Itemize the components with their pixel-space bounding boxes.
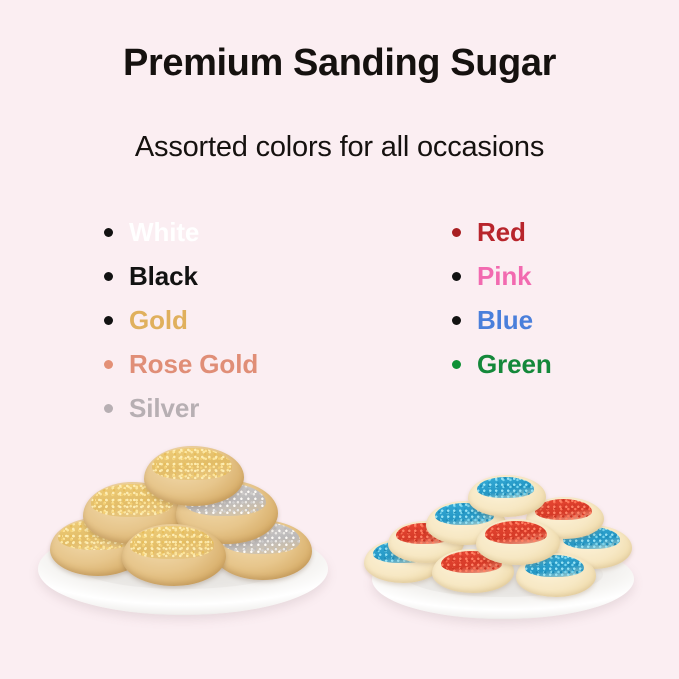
- color-label: Rose Gold: [129, 351, 258, 377]
- page-title: Premium Sanding Sugar: [0, 42, 679, 86]
- list-item: Silver: [104, 386, 258, 430]
- color-label: Red: [477, 219, 526, 245]
- bullet-icon: [452, 360, 461, 369]
- color-label: Silver: [129, 395, 199, 421]
- product-infographic: Premium Sanding Sugar Assorted colors fo…: [0, 0, 679, 679]
- red-blue-cookie-photo: [358, 469, 648, 619]
- color-label: Blue: [477, 307, 533, 333]
- color-list-left: White Black Gold Rose Gold Silver: [104, 210, 258, 430]
- cookie: [468, 475, 546, 517]
- list-item: Red: [452, 210, 552, 254]
- cookie: [122, 524, 226, 586]
- page-subtitle: Assorted colors for all occasions: [0, 131, 679, 164]
- color-label: Pink: [477, 263, 532, 289]
- color-options: White Black Gold Rose Gold Silver: [0, 210, 679, 430]
- cookie: [476, 519, 560, 565]
- gold-silver-cookie-photo: [28, 430, 338, 615]
- bullet-icon: [104, 272, 113, 281]
- list-item: Blue: [452, 298, 552, 342]
- color-label: Gold: [129, 307, 188, 333]
- bullet-icon: [104, 316, 113, 325]
- bullet-icon: [452, 272, 461, 281]
- list-item: White: [104, 210, 258, 254]
- list-item: Gold: [104, 298, 258, 342]
- color-label: Black: [129, 263, 198, 289]
- sanding-sugar: [152, 448, 232, 479]
- color-label: White: [129, 219, 199, 245]
- bullet-icon: [452, 228, 461, 237]
- bullet-icon: [104, 228, 113, 237]
- list-item: Rose Gold: [104, 342, 258, 386]
- bullet-icon: [104, 404, 113, 413]
- color-list-right: Red Pink Blue Green: [452, 210, 552, 386]
- list-item: Green: [452, 342, 552, 386]
- sanding-sugar: [477, 477, 535, 498]
- product-photos: [0, 430, 679, 679]
- list-item: Black: [104, 254, 258, 298]
- list-item: Pink: [452, 254, 552, 298]
- cookie: [144, 446, 244, 506]
- color-label: Green: [477, 351, 552, 377]
- bullet-icon: [452, 316, 461, 325]
- bullet-icon: [104, 360, 113, 369]
- sanding-sugar: [130, 526, 213, 558]
- sanding-sugar: [485, 521, 547, 544]
